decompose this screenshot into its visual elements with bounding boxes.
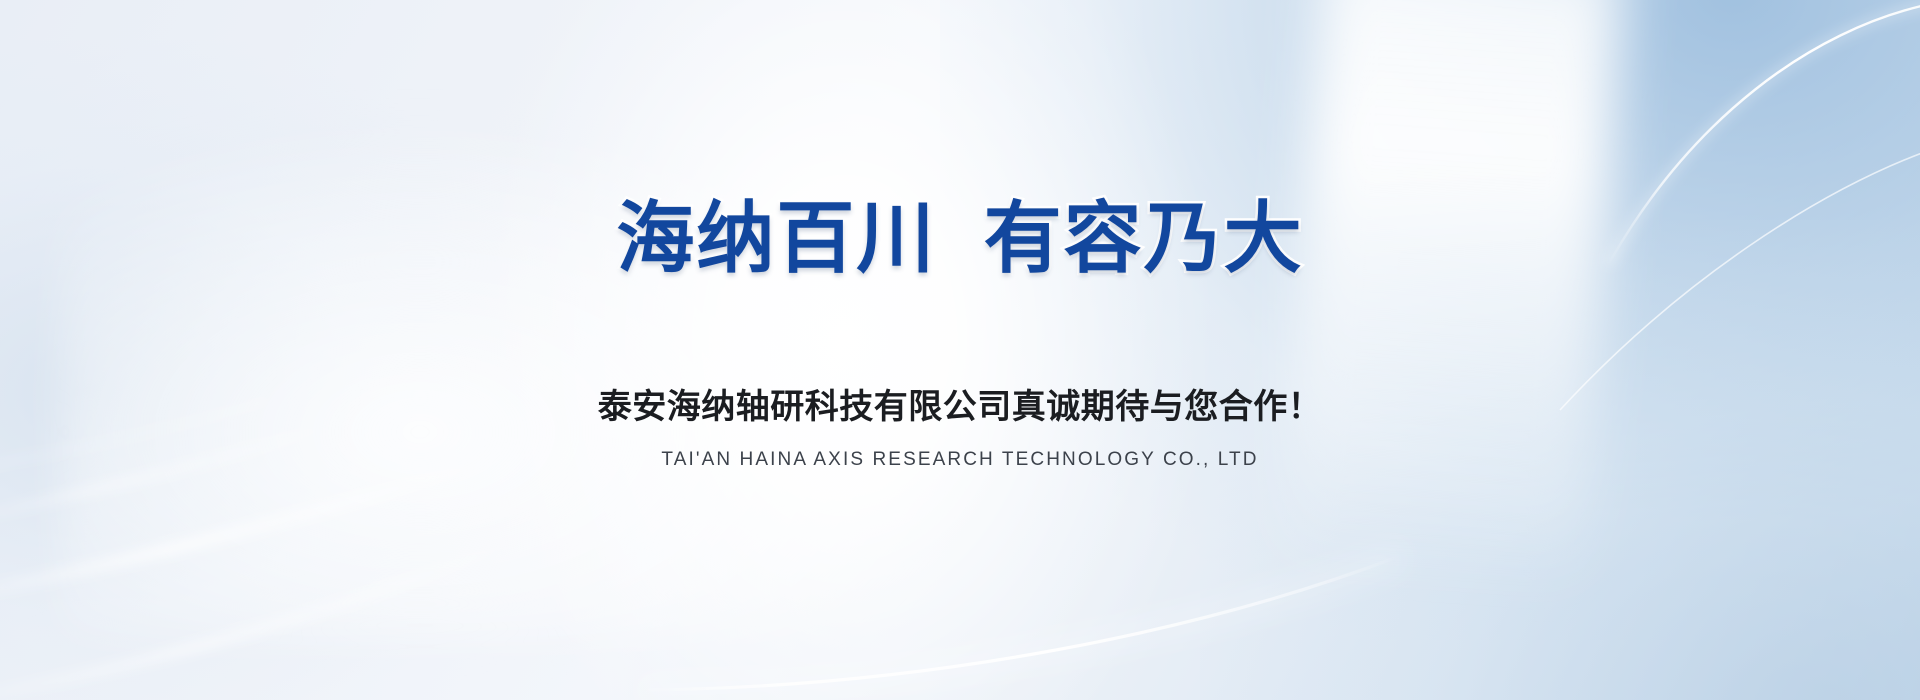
hero-banner: 海纳百川 有容乃大 泰安海纳轴研科技有限公司真诚期待与您合作！ TAI'AN H… [0,0,1920,700]
banner-subtitle-english: TAI'AN HAINA AXIS RESEARCH TECHNOLOGY CO… [0,448,1920,473]
banner-subtitle-chinese: 泰安海纳轴研科技有限公司真诚期待与您合作！ [0,386,1920,429]
banner-content: 海纳百川 有容乃大 泰安海纳轴研科技有限公司真诚期待与您合作！ TAI'AN H… [0,0,1920,700]
banner-headline: 海纳百川 有容乃大 [0,196,1920,280]
